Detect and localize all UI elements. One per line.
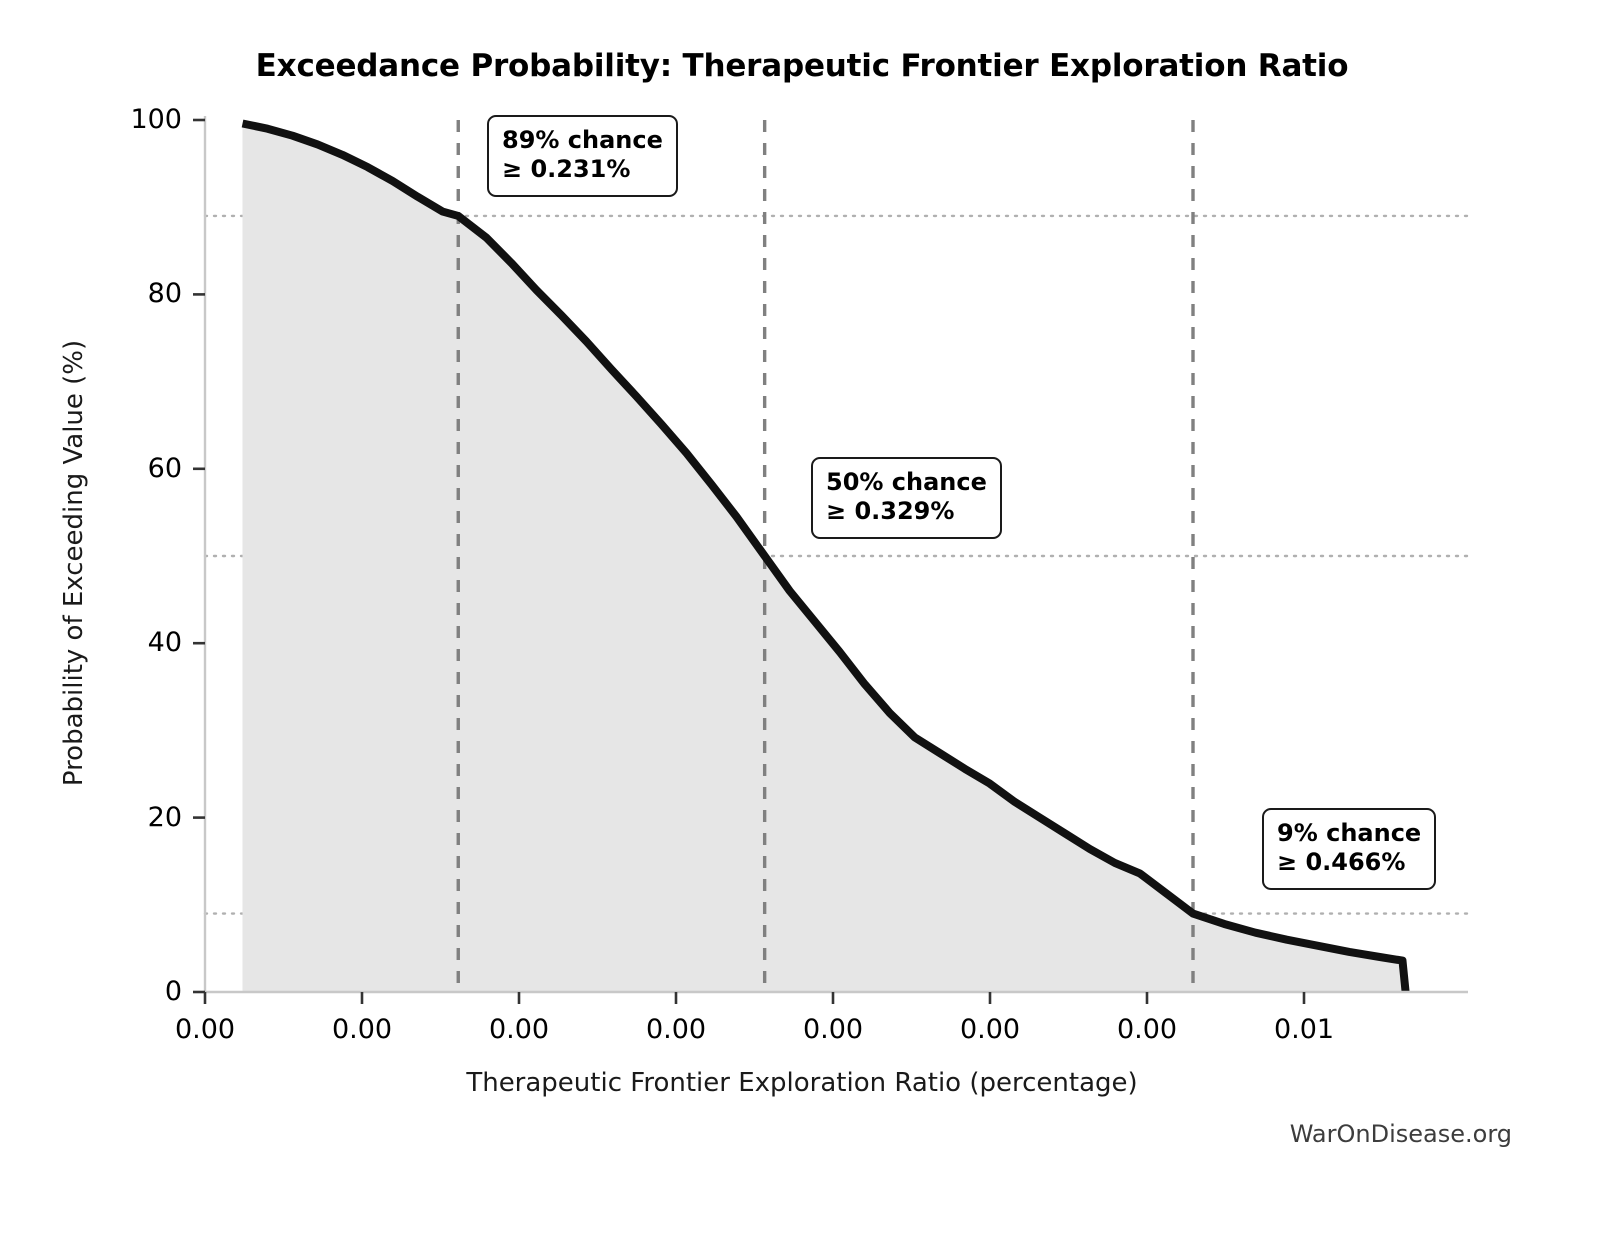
- annotation-89-line2: ≥ 0.231%: [502, 155, 663, 184]
- annotation-50-line2: ≥ 0.329%: [826, 497, 987, 526]
- annotation-89: 89% chance ≥ 0.231%: [487, 115, 678, 197]
- x-tick-label: 0.00: [1077, 1014, 1217, 1045]
- y-tick-label: 100: [92, 104, 182, 135]
- y-tick-label: 80: [92, 278, 182, 309]
- x-tick-label: 0.00: [135, 1014, 275, 1045]
- chart-figure: Exceedance Probability: Therapeutic Fron…: [0, 0, 1604, 1234]
- x-tick-label: 0.00: [606, 1014, 746, 1045]
- annotation-50-line1: 50% chance: [826, 468, 987, 496]
- x-tick-label: 0.01: [1234, 1014, 1374, 1045]
- y-tick-label: 60: [92, 453, 182, 484]
- y-tick-label: 40: [92, 627, 182, 658]
- annotation-9: 9% chance ≥ 0.466%: [1262, 808, 1436, 890]
- y-tick-label: 20: [92, 802, 182, 833]
- site-credit: WarOnDisease.org: [1290, 1120, 1512, 1148]
- annotation-50: 50% chance ≥ 0.329%: [811, 457, 1002, 539]
- annotation-9-line2: ≥ 0.466%: [1277, 848, 1421, 877]
- annotation-89-line1: 89% chance: [502, 126, 663, 154]
- y-tick-label: 0: [92, 976, 182, 1007]
- x-tick-label: 0.00: [292, 1014, 432, 1045]
- x-tick-label: 0.00: [763, 1014, 903, 1045]
- x-tick-labels: 0.000.000.000.000.000.000.000.01: [0, 1014, 1604, 1058]
- area-fill: [243, 123, 1406, 992]
- x-tick-label: 0.00: [449, 1014, 589, 1045]
- annotation-9-line1: 9% chance: [1277, 819, 1421, 847]
- x-tick-label: 0.00: [920, 1014, 1060, 1045]
